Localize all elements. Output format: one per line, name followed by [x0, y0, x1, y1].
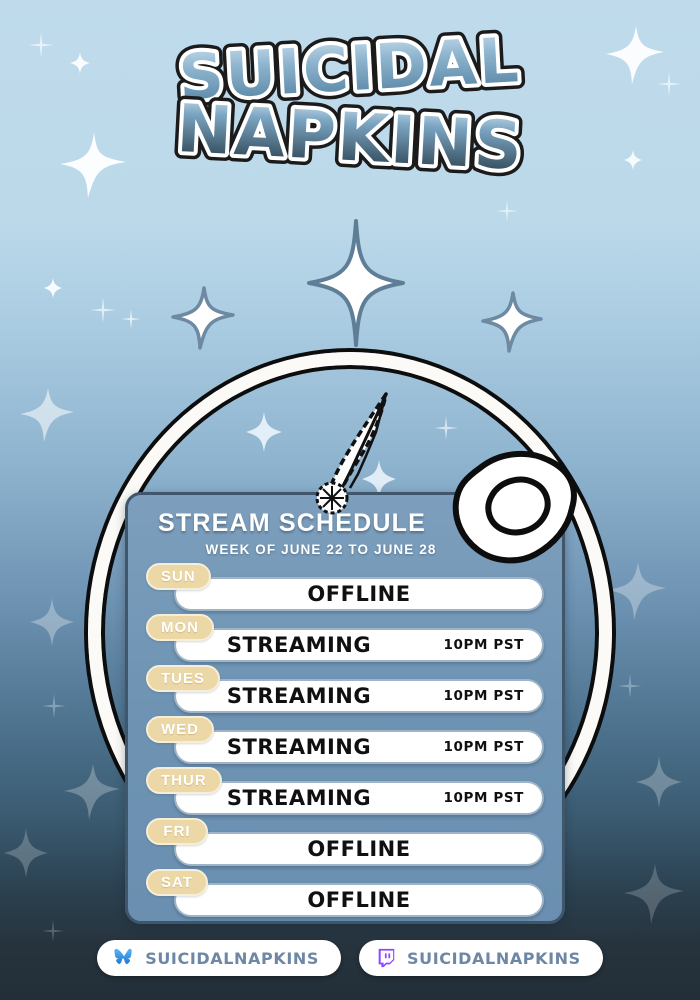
schedule-row: OFFLINE SAT	[146, 869, 544, 919]
schedule-row-bar[interactable]: OFFLINE	[174, 832, 544, 866]
schedule-time: 10PM PST	[444, 637, 524, 653]
schedule-row: STREAMING 10PM PST WED	[146, 716, 544, 766]
social-link-twitch[interactable]: SUICIDALNAPKINS	[359, 940, 603, 976]
schedule-row-bar[interactable]: STREAMING 10PM PST	[174, 628, 544, 662]
svg-text:NAPKINS: NAPKINS	[175, 90, 526, 185]
social-handle-twitch: SUICIDALNAPKINS	[407, 949, 581, 968]
stream-schedule-poster: SUICIDAL SUICIDAL NAPKINS NAPKINS	[0, 0, 700, 1000]
social-handle-bluesky: SUICIDALNAPKINS	[145, 949, 319, 968]
sparkle-four-point-large-icon	[306, 218, 406, 348]
sparkle-star-icon	[62, 762, 122, 822]
feather-illustration	[300, 388, 410, 523]
sparkle-plus-icon	[616, 672, 644, 700]
schedule-status: STREAMING	[206, 684, 392, 708]
logo-wordmark: SUICIDAL SUICIDAL NAPKINS NAPKINS	[160, 28, 540, 198]
schedule-status: STREAMING	[206, 735, 392, 759]
sparkle-plus-icon	[88, 295, 118, 325]
day-pill-mon: MON	[146, 614, 214, 641]
schedule-status: OFFLINE	[176, 888, 542, 912]
sparkle-plus-icon	[494, 198, 520, 224]
sparkle-diamond-icon	[44, 278, 62, 298]
sparkle-star-icon	[622, 862, 686, 926]
schedule-rows: OFFLINE SUN STREAMING 10PM PST MON STREA…	[146, 563, 544, 919]
day-pill-wed: WED	[146, 716, 214, 743]
day-pill-sat: SAT	[146, 869, 208, 896]
sparkle-plus-icon	[40, 692, 68, 720]
schedule-row: OFFLINE FRI	[146, 818, 544, 868]
schedule-row-bar[interactable]: STREAMING 10PM PST	[174, 730, 544, 764]
social-link-bluesky[interactable]: SUICIDALNAPKINS	[97, 940, 341, 976]
twitch-icon	[375, 947, 397, 969]
schedule-row: STREAMING 10PM PST MON	[146, 614, 544, 664]
schedule-status: STREAMING	[206, 786, 392, 810]
schedule-row-bar[interactable]: OFFLINE	[174, 577, 544, 611]
fried-egg-illustration	[444, 448, 580, 571]
brand-logo: SUICIDAL SUICIDAL NAPKINS NAPKINS	[0, 28, 700, 198]
schedule-time: 10PM PST	[444, 790, 524, 806]
sparkle-star-icon	[18, 386, 76, 444]
schedule-status: OFFLINE	[176, 582, 542, 606]
schedule-row: STREAMING 10PM PST TUES	[146, 665, 544, 715]
schedule-status: OFFLINE	[176, 837, 542, 861]
schedule-time: 10PM PST	[444, 688, 524, 704]
schedule-row: STREAMING 10PM PST THUR	[146, 767, 544, 817]
social-links-bar: SUICIDALNAPKINS SUICIDALNAPKINS	[0, 940, 700, 976]
schedule-row-bar[interactable]: STREAMING 10PM PST	[174, 679, 544, 713]
sparkle-plus-icon	[120, 308, 142, 330]
sparkle-star-outline-icon	[480, 290, 544, 354]
sparkle-star-outline-icon	[170, 285, 236, 351]
day-pill-tues: TUES	[146, 665, 220, 692]
day-pill-fri: FRI	[146, 818, 208, 845]
schedule-row-bar[interactable]: OFFLINE	[174, 883, 544, 917]
sparkle-star-icon	[606, 560, 668, 622]
schedule-time: 10PM PST	[444, 739, 524, 755]
sparkle-diamond-icon	[4, 828, 48, 878]
schedule-row-bar[interactable]: STREAMING 10PM PST	[174, 781, 544, 815]
day-pill-sun: SUN	[146, 563, 211, 590]
day-pill-thur: THUR	[146, 767, 222, 794]
sparkle-diamond-icon	[30, 598, 74, 646]
sparkle-diamond-icon	[636, 756, 682, 808]
schedule-status: STREAMING	[206, 633, 392, 657]
bluesky-butterfly-icon	[113, 947, 135, 969]
